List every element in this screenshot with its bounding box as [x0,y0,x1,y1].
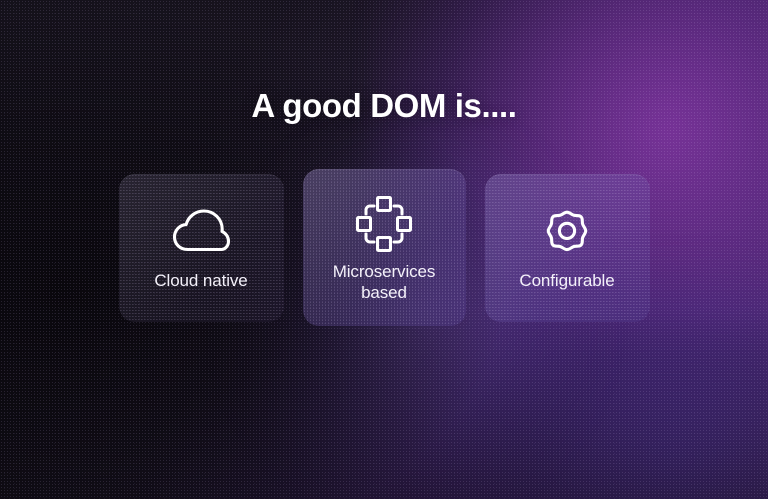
cloud-icon [170,204,232,258]
slide-title: A good DOM is.... [251,89,516,122]
feature-card-configurable[interactable]: Configurable [485,174,650,322]
gear-icon [541,204,593,258]
feature-card-label: Cloud native [119,271,284,292]
feature-card-cloud-native[interactable]: Cloud native [119,174,284,322]
presentation-slide: A good DOM is.... Cloud native [0,0,768,499]
feature-card-group: Cloud native Microservices based [119,169,650,326]
feature-card-microservices-based[interactable]: Microservices based [303,169,466,326]
feature-card-label: Microservices based [303,262,466,303]
feature-card-label: Configurable [485,271,650,292]
slide-content: A good DOM is.... Cloud native [0,0,768,499]
microservices-icon [356,197,412,251]
